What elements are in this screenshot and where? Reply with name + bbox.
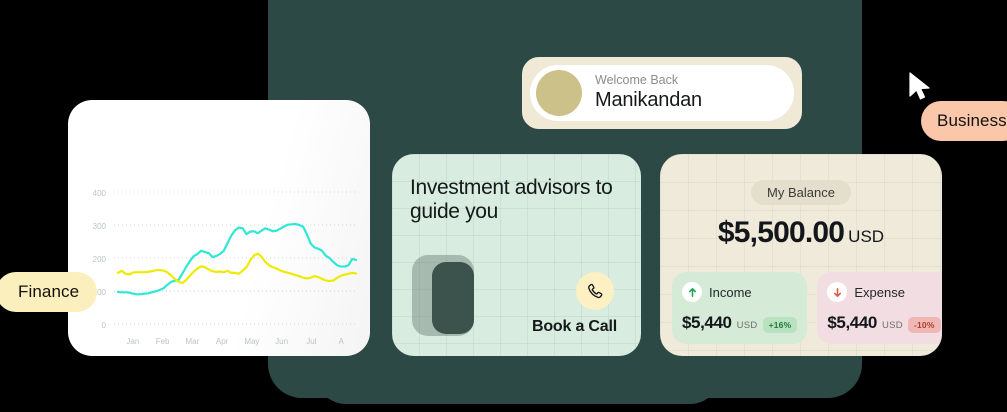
stat-card-income[interactable]: Income $5,440 USD +16% bbox=[672, 272, 807, 344]
book-call-button[interactable] bbox=[576, 272, 614, 310]
svg-text:Feb: Feb bbox=[156, 337, 170, 346]
svg-text:400: 400 bbox=[93, 189, 107, 198]
svg-text:300: 300 bbox=[93, 222, 107, 231]
welcome-user-name: Manikandan bbox=[595, 88, 702, 113]
stat-expense-label: Expense bbox=[854, 285, 905, 300]
svg-text:Mar: Mar bbox=[185, 337, 199, 346]
stat-expense-amount: $5,440 bbox=[827, 313, 877, 333]
stat-card-expense[interactable]: Expense $5,440 USD -10% bbox=[817, 272, 942, 344]
balance-title-pill: My Balance bbox=[751, 180, 851, 205]
stat-expense-change-badge: -10% bbox=[908, 317, 941, 333]
cursor-arrow-icon bbox=[908, 72, 932, 102]
stat-income-value-row: $5,440 USD +16% bbox=[682, 313, 797, 333]
stat-income-label: Income bbox=[709, 285, 752, 300]
line-chart: 0100200300400JanFebMarAprMayJunJulA bbox=[68, 100, 370, 356]
decorative-shape-front bbox=[432, 262, 474, 334]
stat-income-currency: USD bbox=[737, 320, 758, 331]
tag-business-label: Business bbox=[937, 111, 1007, 130]
welcome-card: Welcome Back Manikandan bbox=[519, 54, 805, 132]
avatar[interactable] bbox=[536, 70, 582, 116]
chart-area: 0100200300400JanFebMarAprMayJunJulA bbox=[68, 100, 370, 356]
svg-text:May: May bbox=[244, 337, 259, 346]
welcome-greeting: Welcome Back bbox=[595, 73, 702, 89]
tag-business[interactable]: Business bbox=[921, 101, 1007, 141]
stat-income-change-badge: +16% bbox=[763, 317, 798, 333]
book-call-label[interactable]: Book a Call bbox=[532, 318, 617, 336]
welcome-text: Welcome Back Manikandan bbox=[595, 73, 702, 114]
svg-text:Jan: Jan bbox=[126, 337, 139, 346]
investment-advisors-card: Investment advisors to guide you Book a … bbox=[392, 154, 641, 356]
stat-income-amount: $5,440 bbox=[682, 313, 732, 333]
balance-currency: USD bbox=[848, 227, 884, 246]
stat-expense-currency: USD bbox=[882, 320, 903, 331]
svg-text:A: A bbox=[338, 337, 344, 346]
svg-text:0: 0 bbox=[102, 321, 107, 330]
stat-expense-value-row: $5,440 USD -10% bbox=[827, 313, 940, 333]
stat-income-head: Income bbox=[682, 282, 797, 302]
investment-card-title: Investment advisors to guide you bbox=[410, 176, 641, 223]
tag-finance-label: Finance bbox=[18, 282, 79, 301]
svg-text:200: 200 bbox=[93, 255, 107, 264]
my-balance-card: My Balance $5,500.00USD Income $5,440 US… bbox=[660, 154, 942, 356]
svg-text:Jun: Jun bbox=[275, 337, 288, 346]
balance-amount-row: $5,500.00USD bbox=[660, 216, 942, 250]
balance-stats-row: Income $5,440 USD +16% Expense bbox=[672, 272, 930, 344]
svg-text:Jul: Jul bbox=[306, 337, 316, 346]
svg-text:Apr: Apr bbox=[216, 337, 229, 346]
finance-chart-card: 0100200300400JanFebMarAprMayJunJulA bbox=[68, 100, 370, 356]
phone-icon bbox=[586, 282, 605, 301]
arrow-down-icon bbox=[827, 282, 847, 302]
balance-amount: $5,500.00 bbox=[718, 216, 844, 249]
welcome-inner: Welcome Back Manikandan bbox=[530, 65, 794, 121]
composition-stage: 0100200300400JanFebMarAprMayJunJulA Fina… bbox=[0, 0, 1007, 412]
tag-finance[interactable]: Finance bbox=[0, 272, 97, 312]
arrow-up-icon bbox=[682, 282, 702, 302]
stat-expense-head: Expense bbox=[827, 282, 940, 302]
